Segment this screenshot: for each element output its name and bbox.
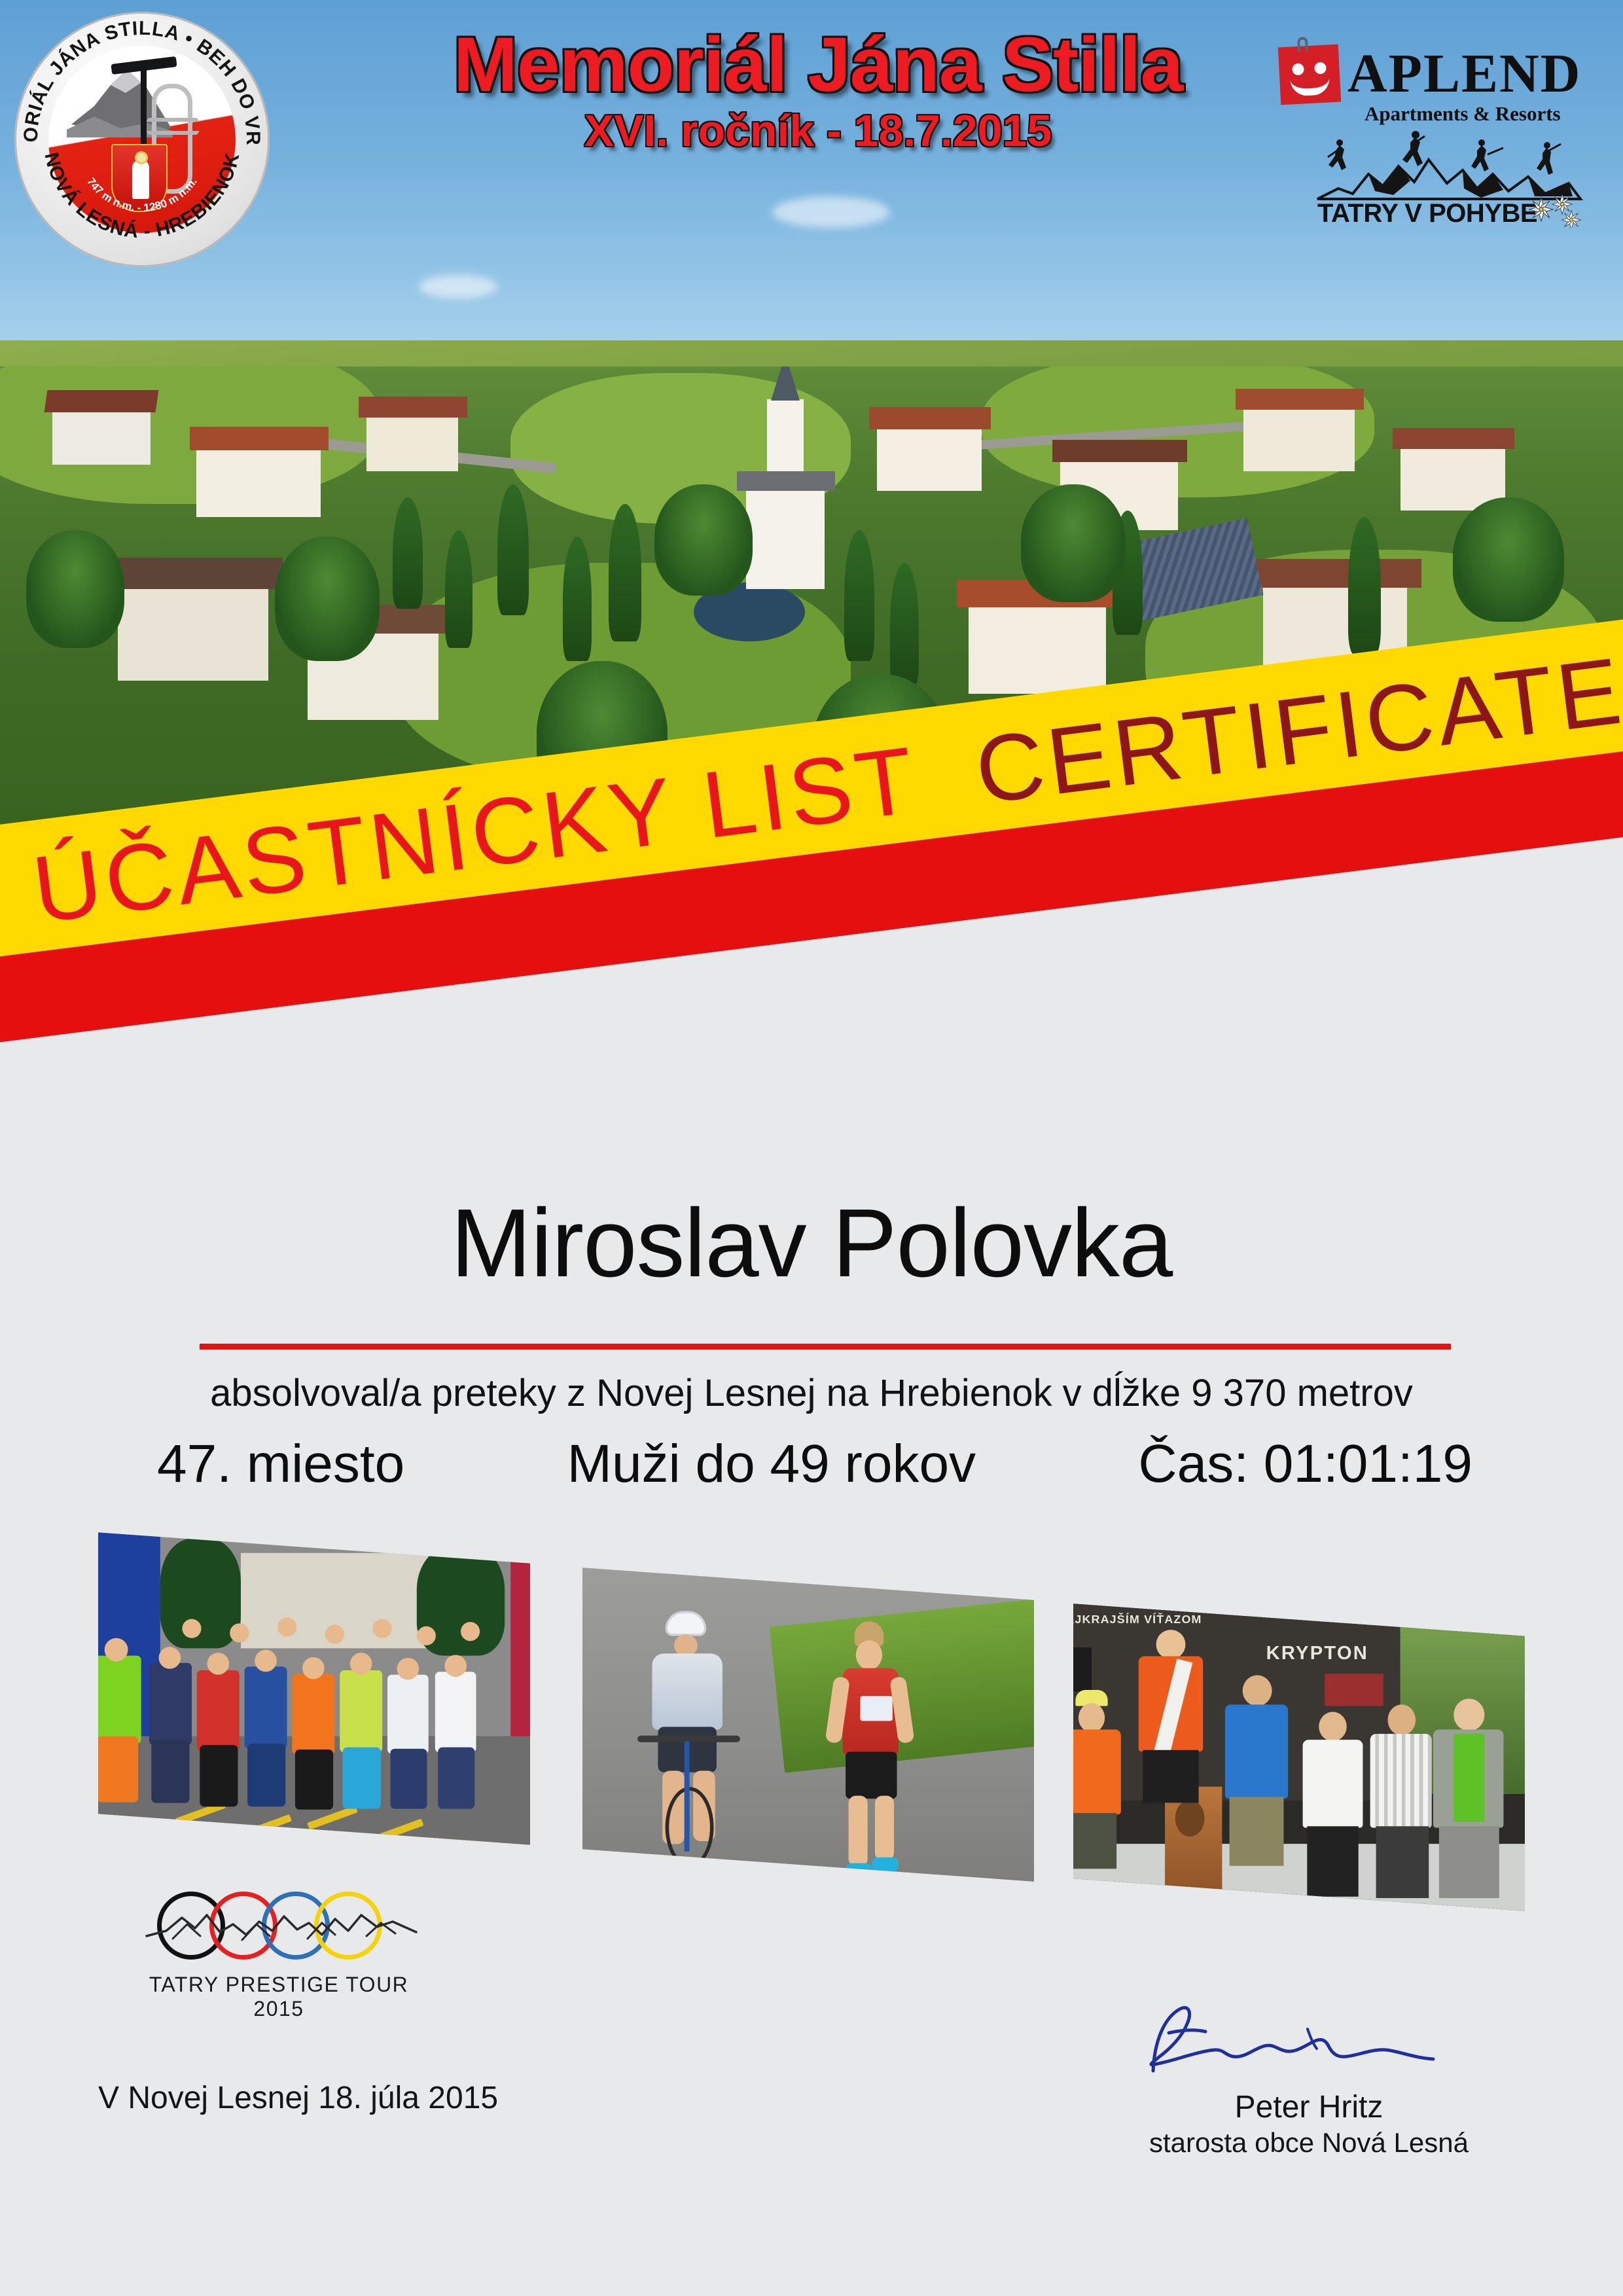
aplend-tagline: Apartments & Resorts — [1364, 102, 1561, 126]
photo-cyclist-and-runner — [582, 1568, 1034, 1881]
svg-text:747 m n.m. - 1280 m n.m.: 747 m n.m. - 1280 m n.m. — [84, 175, 200, 214]
aplend-smile-icon — [1290, 77, 1330, 96]
aplend-eye-right-icon — [1314, 62, 1327, 75]
emblem-arc-top-text: MEMORIÁL JÁNA STILLA • BEH DO VRCHU — [14, 12, 264, 146]
event-title-block: Memoriál Jána Stilla XVI. ročník - 18.7.… — [366, 26, 1270, 153]
tatry-prestige-tour-logo: TATRY PRESTIGE TOUR 2015 — [157, 1892, 445, 2009]
cloud-shape — [419, 275, 497, 298]
recipient-name: Miroslav Polovka — [0, 1188, 1623, 1299]
photo-award-ceremony: NAJKRAJŠÍM VÍŤAZOM KRYPTON — [1073, 1604, 1525, 1910]
event-subtitle: XVI. ročník - 18.7.2015 — [366, 109, 1270, 153]
page-title: Memoriál Jána Stilla — [366, 26, 1270, 103]
tatry-v-pohybe-wordmark: TATRY V POHYBE — [1317, 199, 1537, 228]
sponsor-logo-tatry-v-pohybe: TATRY V POHYBE — [1312, 131, 1587, 229]
result-time: Čas: 01:01:19 — [1138, 1433, 1472, 1495]
result-category: Muži do 49 rokov — [567, 1433, 976, 1495]
prestige-mountain-line-icon — [144, 1902, 419, 1957]
signature-mark — [1126, 2003, 1479, 2081]
aplend-hook-icon — [1297, 37, 1308, 52]
signatory-role: starosta obce Nová Lesná — [1113, 2127, 1505, 2159]
signatory-name: Peter Hritz — [1113, 2089, 1505, 2125]
emblem-altitude-text: 747 m n.m. - 1280 m n.m. — [84, 175, 200, 214]
svg-text:MEMORIÁL JÁNA STILLA • BEH D: MEMORIÁL JÁNA STILLA • BEH DO VRCHU — [14, 12, 264, 146]
aplend-eye-left-icon — [1292, 63, 1304, 75]
issued-place-and-date: V Novej Lesnej 18. júla 2015 — [98, 2080, 498, 2116]
emblem-circular-text: MEMORIÁL JÁNA STILLA • BEH DO VRCHU NOVÁ… — [14, 12, 270, 267]
sponsor-logo-aplend: APLEND Apartments & Resorts — [1279, 39, 1587, 124]
aplend-house-icon — [1278, 45, 1341, 105]
event-emblem-logo: MEMORIÁL JÁNA STILLA • BEH DO VRCHU NOVÁ… — [14, 12, 270, 267]
cloud-shape — [772, 196, 890, 228]
name-divider-line — [200, 1344, 1451, 1350]
prestige-tour-label: TATRY PRESTIGE TOUR 2015 — [148, 1973, 410, 2021]
aplend-wordmark: APLEND — [1347, 42, 1581, 105]
certificate-description: absolvoval/a preteky z Novej Lesnej na H… — [0, 1371, 1623, 1415]
result-place: 47. miesto — [157, 1433, 404, 1495]
emblem-arc-bottom-text: NOVÁ LESNÁ - HREBIENOK — [40, 151, 243, 242]
results-row: 47. miesto Muži do 49 rokov Čas: 01:01:1… — [157, 1433, 1472, 1495]
photo-race-start — [98, 1532, 530, 1844]
svg-text:NOVÁ LESNÁ - HREBIENOK: NOVÁ LESNÁ - HREBIENOK — [40, 151, 243, 242]
edelweiss-flower-icon — [1528, 191, 1587, 228]
